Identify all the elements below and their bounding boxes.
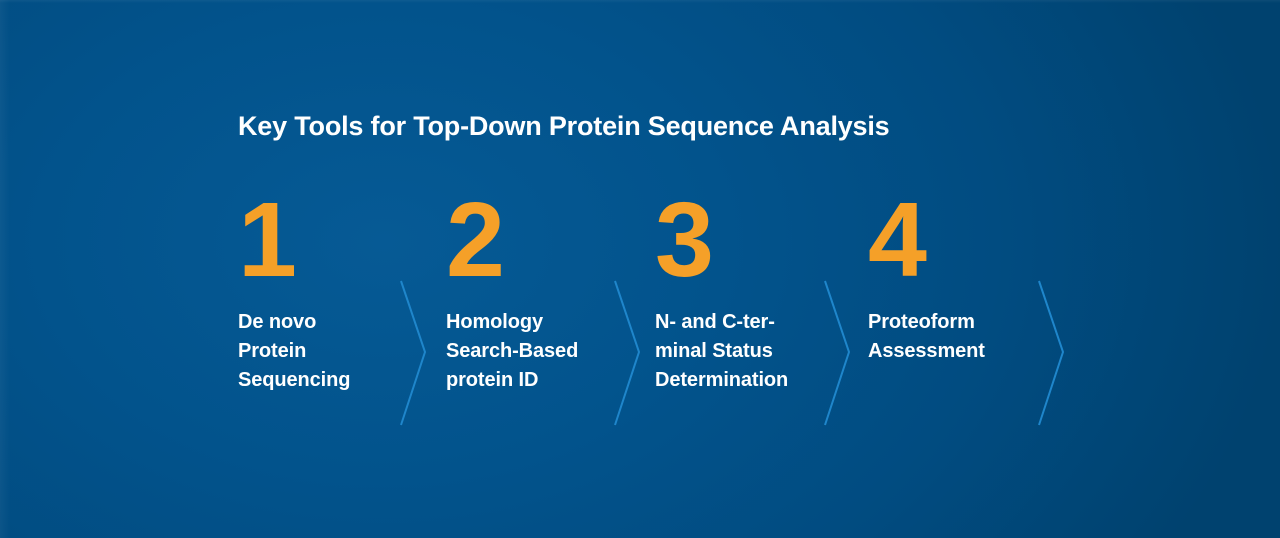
step-label-3: N- and C-ter- minal Status Determination — [655, 308, 825, 395]
step-number-1: 1 — [238, 196, 408, 284]
chevron-right-icon — [398, 278, 428, 428]
step-item-4: 4 Proteoform Assessment — [868, 196, 1038, 366]
step-item-3: 3 N- and C-ter- minal Status Determinati… — [655, 196, 825, 395]
chevron-right-icon — [612, 278, 642, 428]
step-number-3: 3 — [655, 196, 825, 284]
step-item-1: 1 De novo Protein Sequencing — [238, 196, 408, 395]
page-title: Key Tools for Top-Down Protein Sequence … — [238, 109, 890, 143]
step-item-2: 2 Homology Search-Based protein ID — [446, 196, 616, 395]
step-label-4: Proteoform Assessment — [868, 308, 1038, 366]
step-number-2: 2 — [446, 196, 616, 284]
step-number-4: 4 — [868, 196, 1038, 284]
infographic-slide: Key Tools for Top-Down Protein Sequence … — [0, 0, 1280, 538]
chevron-right-icon — [1036, 278, 1066, 428]
chevron-right-icon — [822, 278, 852, 428]
step-label-1: De novo Protein Sequencing — [238, 308, 408, 395]
step-label-2: Homology Search-Based protein ID — [446, 308, 616, 395]
